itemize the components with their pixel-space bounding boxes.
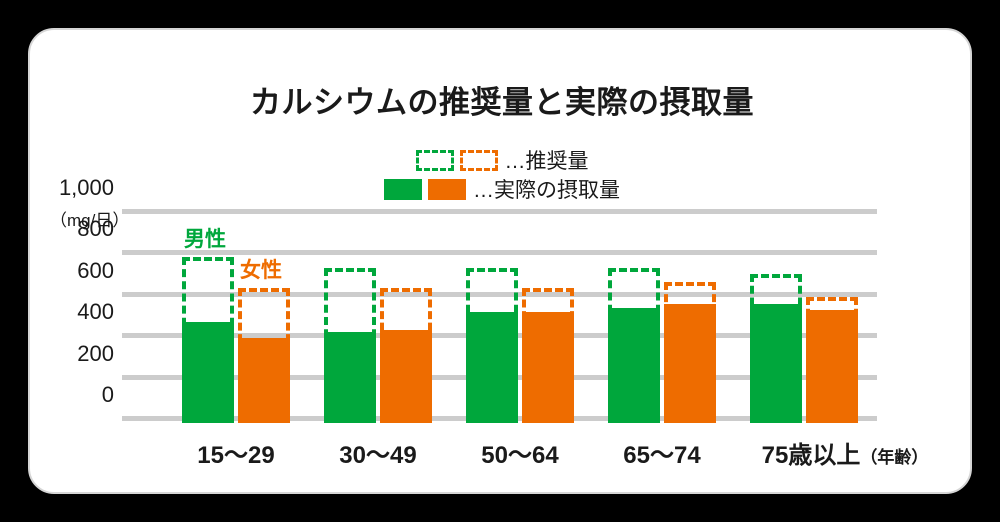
- bar-male-actual: [466, 312, 518, 423]
- bar-male-actual: [324, 332, 376, 423]
- x-axis-unit-label: （年齢）: [860, 448, 928, 467]
- y-axis-tick-label: 600: [26, 258, 114, 284]
- legend-swatch-group-solid: [384, 179, 466, 200]
- y-axis-tick-label: 200: [26, 341, 114, 367]
- plot-area: 02004006008001,000 男性女性: [122, 216, 877, 423]
- bar-male-actual: [608, 308, 660, 423]
- y-axis-tick-label: 0: [26, 382, 114, 408]
- legend-swatch-group-dashed: [416, 150, 498, 171]
- chart-legend: …推奨量 …実際の摂取量: [30, 148, 974, 201]
- x-axis-tick-label: 75歳以上（年齢）: [716, 435, 974, 470]
- legend-item-recommended: …推奨量: [416, 148, 589, 172]
- legend-swatch-male-dashed-icon: [416, 150, 454, 171]
- x-axis-tick-labels: 15〜2930〜4950〜6465〜7475歳以上（年齢）: [122, 423, 897, 467]
- legend-swatch-female-solid-icon: [428, 179, 466, 200]
- bar-female-actual: [380, 330, 432, 423]
- legend-item-actual: …実際の摂取量: [384, 177, 620, 201]
- bar-male-actual: [182, 322, 234, 423]
- bar-female-actual: [806, 310, 858, 423]
- series-label-male: 男性: [184, 223, 226, 253]
- bar-female-actual: [238, 338, 290, 423]
- y-axis-tick-label: 400: [26, 299, 114, 325]
- series-label-female: 女性: [240, 254, 282, 284]
- bar-series-container: 男性女性: [122, 216, 877, 423]
- chart-card: カルシウムの推奨量と実際の摂取量 …推奨量 …実際の摂取量 （mg/日） 020…: [28, 28, 972, 494]
- legend-swatch-female-dashed-icon: [460, 150, 498, 171]
- bar-female-actual: [664, 304, 716, 423]
- legend-label-actual: …実際の摂取量: [473, 174, 620, 204]
- y-axis-tick-label: 1,000: [26, 175, 114, 201]
- legend-label-recommended: …推奨量: [505, 145, 589, 175]
- bar-female-actual: [522, 312, 574, 423]
- gridline: [122, 209, 877, 214]
- legend-swatch-male-solid-icon: [384, 179, 422, 200]
- y-axis-tick-label: 800: [26, 216, 114, 242]
- bar-male-actual: [750, 304, 802, 423]
- page-title: カルシウムの推奨量と実際の摂取量: [30, 77, 974, 122]
